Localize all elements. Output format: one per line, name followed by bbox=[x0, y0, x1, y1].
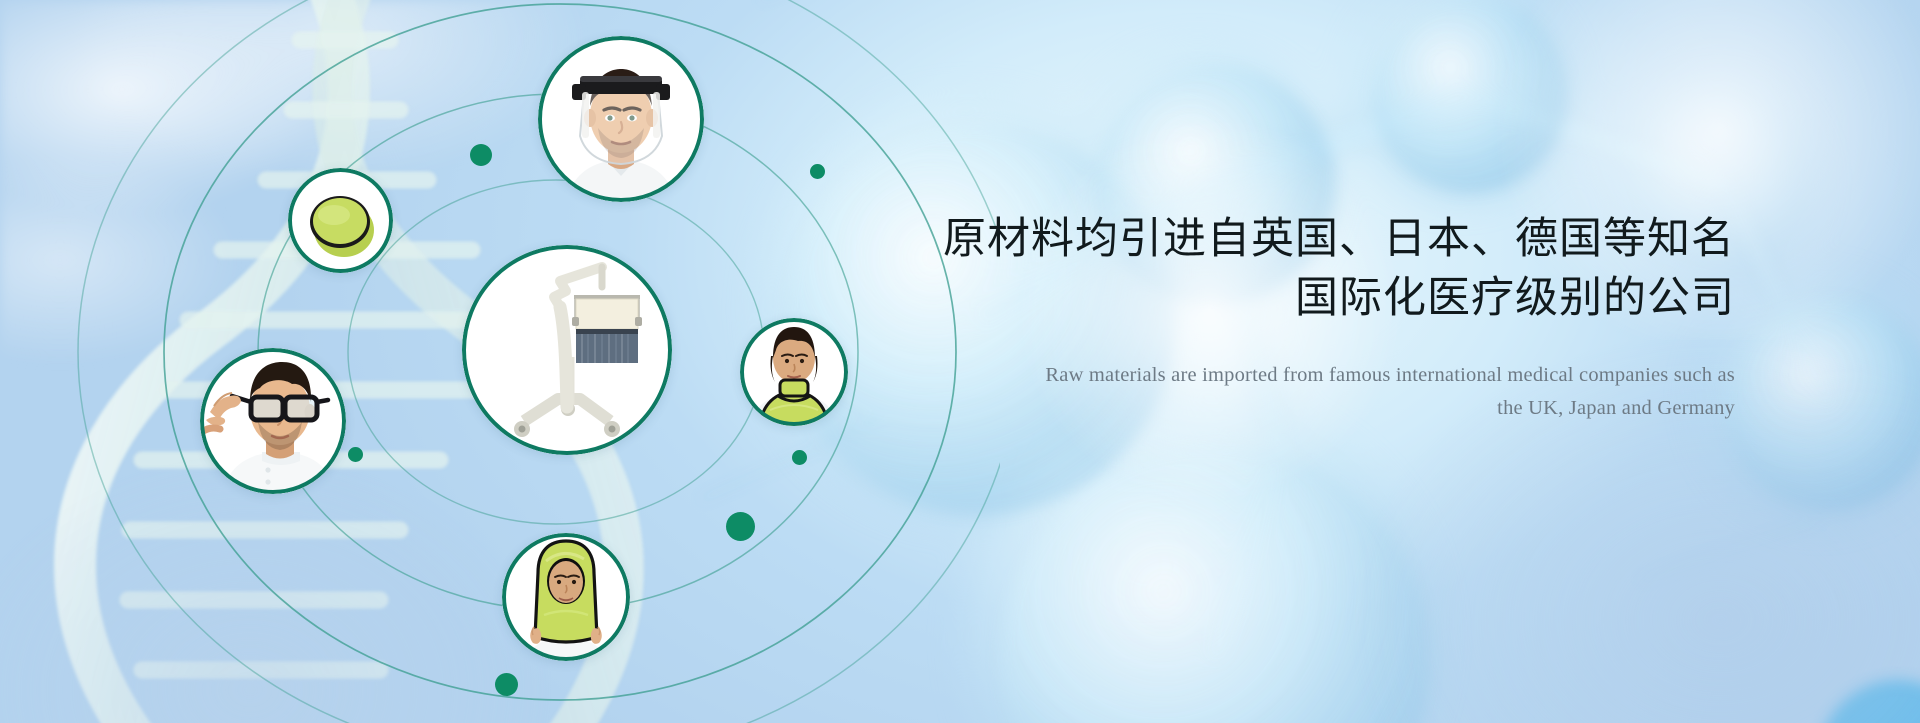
hero-text-block: 原材料均引进自英国、日本、德国等知名 国际化医疗级别的公司 Raw materi… bbox=[915, 210, 1735, 425]
bubble-lead-cap-product[interactable] bbox=[288, 168, 393, 273]
face-shield-worker-image bbox=[538, 36, 704, 202]
hero-banner: 原材料均引进自英国、日本、德国等知名 国际化医疗级别的公司 Raw materi… bbox=[0, 0, 1920, 723]
bubble-lead-hood-worker[interactable] bbox=[502, 533, 630, 661]
orbit-node-icon bbox=[792, 450, 807, 465]
lead-glasses-worker-image bbox=[200, 348, 346, 494]
bubble-lead-glasses-worker[interactable] bbox=[200, 348, 346, 494]
subheadline-line-2: the UK, Japan and Germany bbox=[915, 392, 1735, 425]
thyroid-collar-worker-image bbox=[740, 318, 848, 426]
lead-hood-worker-image bbox=[502, 533, 630, 661]
bubble-thyroid-collar-worker[interactable] bbox=[740, 318, 848, 426]
subheadline-line-1: Raw materials are imported from famous i… bbox=[1045, 364, 1735, 386]
subheadline: Raw materials are imported from famous i… bbox=[915, 359, 1735, 425]
lead-cap-image bbox=[288, 168, 393, 273]
headline-line-1: 原材料均引进自英国、日本、德国等知名 bbox=[943, 215, 1735, 263]
orbit-node-icon bbox=[348, 447, 363, 462]
orbit-node-icon bbox=[726, 512, 755, 541]
headline-line-2: 国际化医疗级别的公司 bbox=[915, 269, 1735, 328]
orbit-node-icon bbox=[810, 164, 825, 179]
mobile-xray-barrier-image bbox=[462, 245, 672, 455]
bubble-face-shield-worker[interactable] bbox=[538, 36, 704, 202]
orbit-node-icon bbox=[470, 144, 492, 166]
orbit-node-icon bbox=[495, 673, 518, 696]
headline: 原材料均引进自英国、日本、德国等知名 国际化医疗级别的公司 bbox=[915, 210, 1735, 329]
bubble-mobile-xray-barrier[interactable] bbox=[462, 245, 672, 455]
